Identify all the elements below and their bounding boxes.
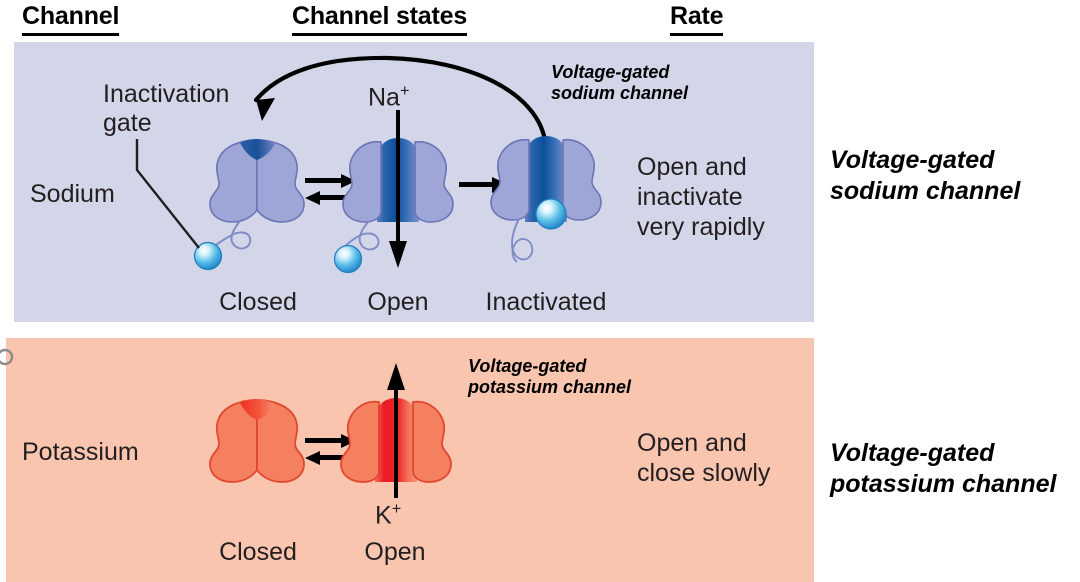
callout-potassium-line2: potassium channel	[468, 377, 631, 398]
state-label-sodium-closed: Closed	[203, 288, 313, 317]
callout-sodium-line1: Voltage-gated	[551, 62, 688, 83]
rate-text-sodium: Open and inactivate very rapidly	[637, 152, 765, 242]
rate-potassium-line1: Open and	[637, 428, 770, 458]
state-label-potassium-open: Open	[345, 538, 445, 567]
side-label-potassium-channel: Voltage-gated potassium channel	[830, 438, 1056, 499]
column-header-channel: Channel	[22, 2, 119, 36]
callout-potassium-line1: Voltage-gated	[468, 356, 631, 377]
side-label-potassium-line2: potassium channel	[830, 469, 1056, 500]
inactivation-gate-annotation: Inactivation gate	[103, 80, 229, 138]
side-label-potassium-line1: Voltage-gated	[830, 438, 1056, 469]
rate-text-potassium: Open and close slowly	[637, 428, 770, 488]
ion-charge-sodium: +	[400, 82, 410, 100]
figure-canvas: Channel Channel states Rate Sodium Inact…	[0, 0, 1080, 582]
rate-sodium-line2: inactivate	[637, 182, 765, 212]
state-label-sodium-inactivated: Inactivated	[462, 288, 630, 317]
column-header-channel-label: Channel	[22, 2, 119, 36]
ion-symbol-potassium: K	[375, 501, 392, 529]
rate-potassium-line2: close slowly	[637, 458, 770, 488]
state-label-potassium-closed: Closed	[203, 538, 313, 567]
side-label-sodium-channel: Voltage-gated sodium channel	[830, 145, 1020, 206]
inactivation-gate-annotation-line1: Inactivation	[103, 80, 229, 109]
callout-potassium-channel: Voltage-gated potassium channel	[468, 356, 631, 398]
state-label-sodium-open: Open	[348, 288, 448, 317]
callout-sodium-channel: Voltage-gated sodium channel	[551, 62, 688, 104]
column-header-rate: Rate	[670, 2, 723, 36]
rate-sodium-line3: very rapidly	[637, 212, 765, 242]
ion-label-potassium: K+	[375, 500, 401, 530]
column-header-channel-states: Channel states	[292, 2, 467, 36]
ion-label-sodium: Na+	[368, 82, 409, 112]
inactivation-gate-annotation-line2: gate	[103, 109, 229, 138]
ion-symbol-sodium: Na	[368, 83, 400, 111]
column-header-rate-label: Rate	[670, 2, 723, 36]
row-label-sodium: Sodium	[30, 180, 115, 209]
ion-charge-potassium: +	[392, 500, 402, 518]
side-label-sodium-line1: Voltage-gated	[830, 145, 1020, 176]
rate-sodium-line1: Open and	[637, 152, 765, 182]
column-header-channel-states-label: Channel states	[292, 2, 467, 36]
side-label-sodium-line2: sodium channel	[830, 176, 1020, 207]
row-label-potassium: Potassium	[22, 438, 139, 467]
callout-sodium-line2: sodium channel	[551, 83, 688, 104]
